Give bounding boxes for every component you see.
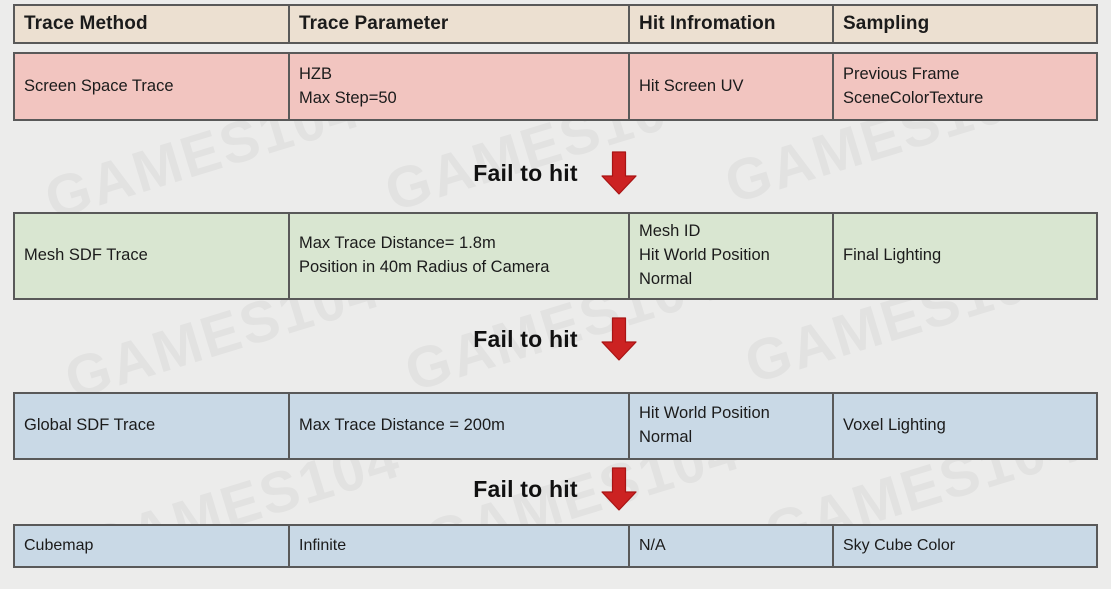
cell-line: Previous Frame: [843, 63, 1087, 87]
column-header-label: Trace Parameter: [299, 10, 619, 38]
trace-method-fallback-table: Trace Method Trace Parameter Hit Infroma…: [0, 0, 1111, 589]
cell-sampling: Voxel Lighting: [834, 394, 1096, 458]
cell-line: Voxel Lighting: [843, 414, 1087, 438]
cell-line: Sky Cube Color: [843, 534, 1087, 557]
cell-sampling: Sky Cube Color: [834, 526, 1096, 566]
column-header-trace-method: Trace Method: [15, 6, 290, 42]
connector-fail-to-hit-2: Fail to hit: [0, 316, 1111, 362]
table-row-mesh-sdf-trace: Mesh SDF Trace Max Trace Distance= 1.8m …: [13, 212, 1098, 300]
cell-line: Hit Screen UV: [639, 75, 823, 99]
column-header-sampling: Sampling: [834, 6, 1096, 42]
cell-line: Screen Space Trace: [24, 75, 279, 99]
table-row-cubemap: Cubemap Infinite N/A Sky Cube Color: [13, 524, 1098, 568]
fail-to-hit-label: Fail to hit: [473, 160, 577, 187]
cell-sampling: Final Lighting: [834, 214, 1096, 298]
down-arrow-icon: [600, 316, 638, 362]
cell-line: Position in 40m Radius of Camera: [299, 256, 619, 280]
cell-line: Normal: [639, 268, 823, 292]
cell-line: HZB: [299, 63, 619, 87]
column-header-trace-parameter: Trace Parameter: [290, 6, 630, 42]
cell-line: Hit World Position: [639, 402, 823, 426]
connector-fail-to-hit-1: Fail to hit: [0, 150, 1111, 196]
table-row-global-sdf-trace: Global SDF Trace Max Trace Distance = 20…: [13, 392, 1098, 460]
cell-line: SceneColorTexture: [843, 87, 1087, 111]
cell-trace-method: Mesh SDF Trace: [15, 214, 290, 298]
cell-trace-parameter: Max Trace Distance= 1.8m Position in 40m…: [290, 214, 630, 298]
down-arrow-icon: [600, 150, 638, 196]
cell-line: Hit World Position: [639, 244, 823, 268]
cell-trace-method: Cubemap: [15, 526, 290, 566]
cell-hit-information: Hit Screen UV: [630, 54, 834, 119]
cell-hit-information: N/A: [630, 526, 834, 566]
table-header-row: Trace Method Trace Parameter Hit Infroma…: [13, 4, 1098, 44]
cell-line: N/A: [639, 534, 823, 557]
down-arrow-icon: [600, 466, 638, 512]
table-row-screen-space-trace: Screen Space Trace HZB Max Step=50 Hit S…: [13, 52, 1098, 121]
cell-line: Final Lighting: [843, 244, 1087, 268]
cell-trace-method: Global SDF Trace: [15, 394, 290, 458]
cell-trace-parameter: Infinite: [290, 526, 630, 566]
column-header-hit-information: Hit Infromation: [630, 6, 834, 42]
cell-trace-parameter: Max Trace Distance = 200m: [290, 394, 630, 458]
cell-line: Normal: [639, 426, 823, 450]
cell-line: Max Trace Distance= 1.8m: [299, 232, 619, 256]
cell-line: Global SDF Trace: [24, 414, 279, 438]
cell-sampling: Previous Frame SceneColorTexture: [834, 54, 1096, 119]
cell-hit-information: Hit World Position Normal: [630, 394, 834, 458]
fail-to-hit-label: Fail to hit: [473, 326, 577, 353]
cell-line: Max Step=50: [299, 87, 619, 111]
cell-trace-method: Screen Space Trace: [15, 54, 290, 119]
cell-line: Infinite: [299, 534, 619, 557]
cell-line: Max Trace Distance = 200m: [299, 414, 619, 438]
fail-to-hit-label: Fail to hit: [473, 476, 577, 503]
cell-line: Cubemap: [24, 534, 279, 557]
cell-trace-parameter: HZB Max Step=50: [290, 54, 630, 119]
connector-fail-to-hit-3: Fail to hit: [0, 466, 1111, 512]
cell-line: Mesh ID: [639, 220, 823, 244]
cell-hit-information: Mesh ID Hit World Position Normal: [630, 214, 834, 298]
column-header-label: Hit Infromation: [639, 10, 823, 38]
column-header-label: Trace Method: [24, 10, 279, 38]
cell-line: Mesh SDF Trace: [24, 244, 279, 268]
column-header-label: Sampling: [843, 10, 1087, 38]
